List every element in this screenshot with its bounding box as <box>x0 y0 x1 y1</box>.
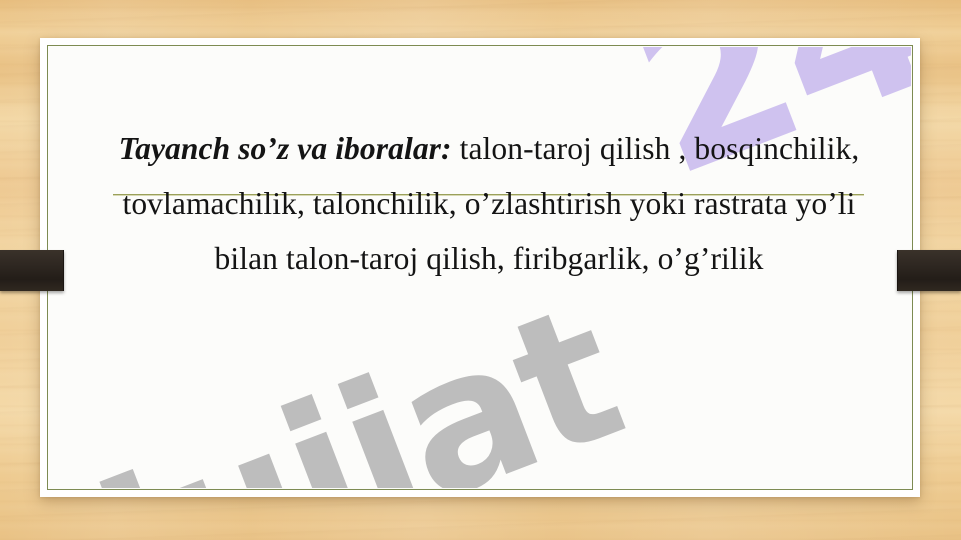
slide-body-text: Tayanch so’z va iboralar: talon-taroj qi… <box>105 121 873 286</box>
mount-bar-right <box>897 250 961 291</box>
mount-bar-left <box>0 250 64 291</box>
slide-canvas: 24 Hujjat Tayanch so’z va iboralar: talo… <box>0 0 961 540</box>
card-content-area: 24 Hujjat Tayanch so’z va iboralar: talo… <box>49 47 911 488</box>
watermark-brand: Hujjat <box>49 278 639 488</box>
keywords-label: Tayanch so’z va iboralar: <box>119 131 452 166</box>
slide-card: 24 Hujjat Tayanch so’z va iboralar: talo… <box>40 38 920 497</box>
card-inner-border: 24 Hujjat Tayanch so’z va iboralar: talo… <box>47 45 913 490</box>
